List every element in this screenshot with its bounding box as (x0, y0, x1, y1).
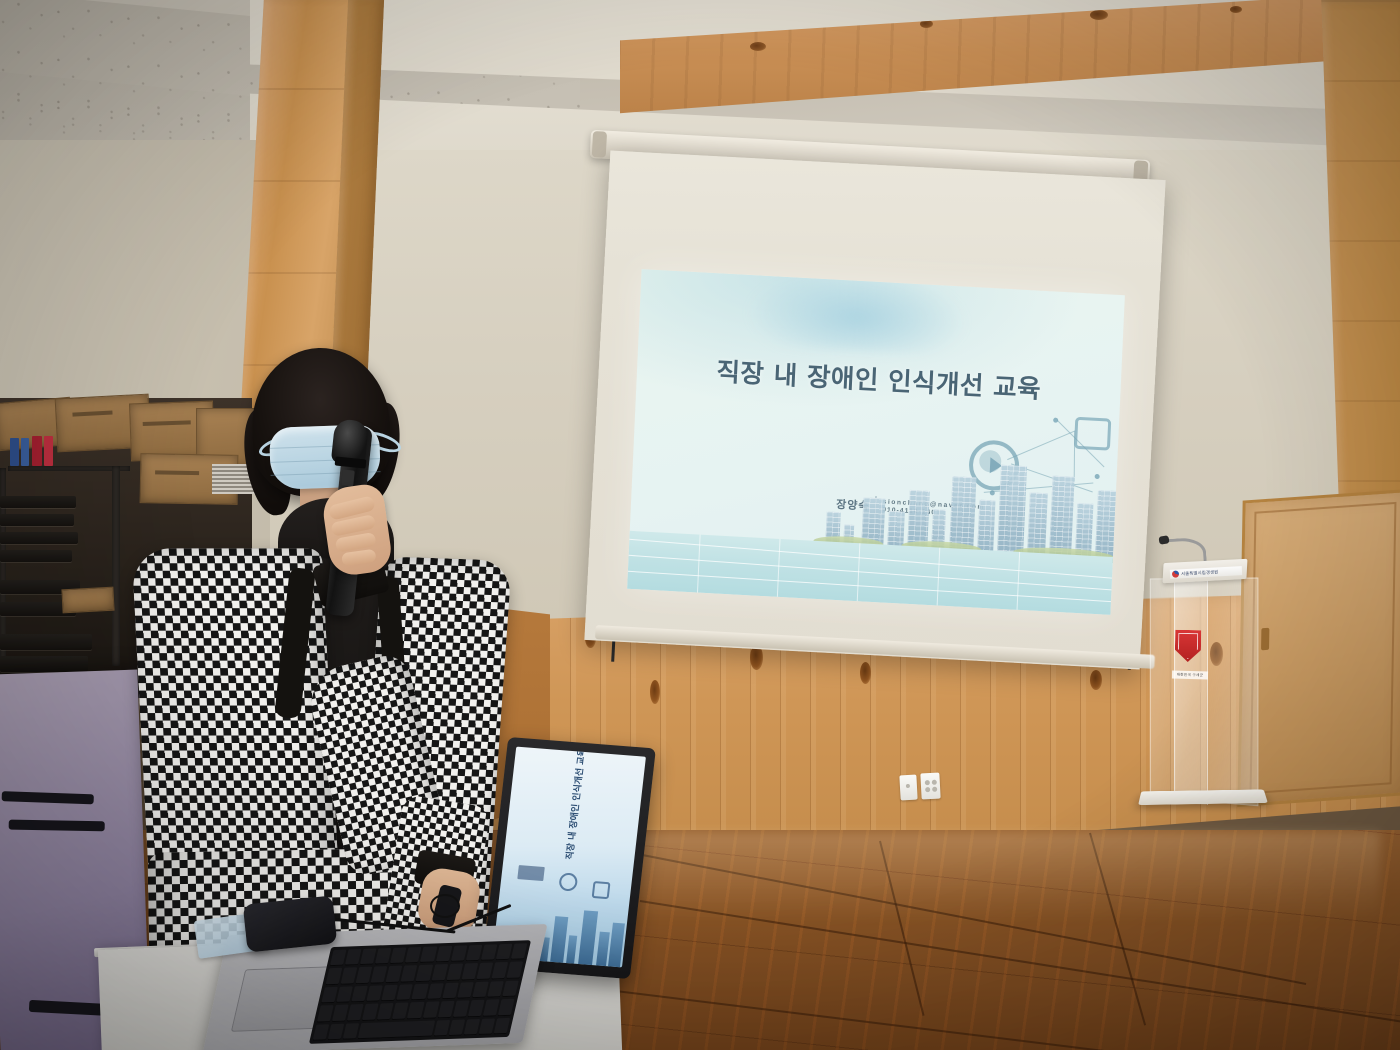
chat-bubble-icon (1074, 417, 1111, 451)
podium-emblem-caption: 대한민국 구세군 (1172, 671, 1208, 680)
laptop-slide-title: 직장 내 장애인 인식개선 교육 (561, 747, 589, 869)
microphone-switch[interactable] (341, 469, 355, 486)
podium-nameplate-text: 서울특별시립갱생원 (1181, 569, 1219, 577)
cable-pouch (243, 895, 338, 952)
wall-cabinet-door[interactable] (1237, 489, 1400, 807)
stacked-tray (0, 514, 74, 526)
stacked-tray (0, 496, 76, 508)
cable-loop (430, 894, 460, 918)
wall-outlet-left[interactable] (899, 775, 917, 801)
cabinet-handle[interactable] (1261, 628, 1269, 651)
podium-emblem-icon (1172, 570, 1179, 577)
cardboard-box (61, 587, 114, 614)
photo-scene: 직장 내 장애인 인식개선 교육 장양숙 sionchang@naver.com… (0, 0, 1400, 1050)
wall-outlet-right[interactable] (920, 773, 940, 800)
laptop-play-circle-icon (558, 872, 578, 891)
laptop-chat-bubble-icon (592, 881, 611, 899)
laptop-slide-contact (517, 865, 545, 881)
acrylic-podium-front-panel (1174, 577, 1208, 805)
stacked-tray (0, 656, 88, 672)
podium-base (1138, 789, 1268, 805)
cabinet-inner-frame (1250, 502, 1397, 794)
floor-reflection (620, 832, 1380, 922)
salvation-army-shield-icon (1175, 630, 1202, 662)
projected-slide: 직장 내 장애인 인식개선 교육 장양숙 sionchang@naver.com… (627, 269, 1125, 615)
laptop-keyboard[interactable] (309, 940, 531, 1044)
stacked-tray (0, 550, 72, 562)
stacked-tray (0, 532, 78, 544)
stacked-tray (0, 634, 92, 650)
